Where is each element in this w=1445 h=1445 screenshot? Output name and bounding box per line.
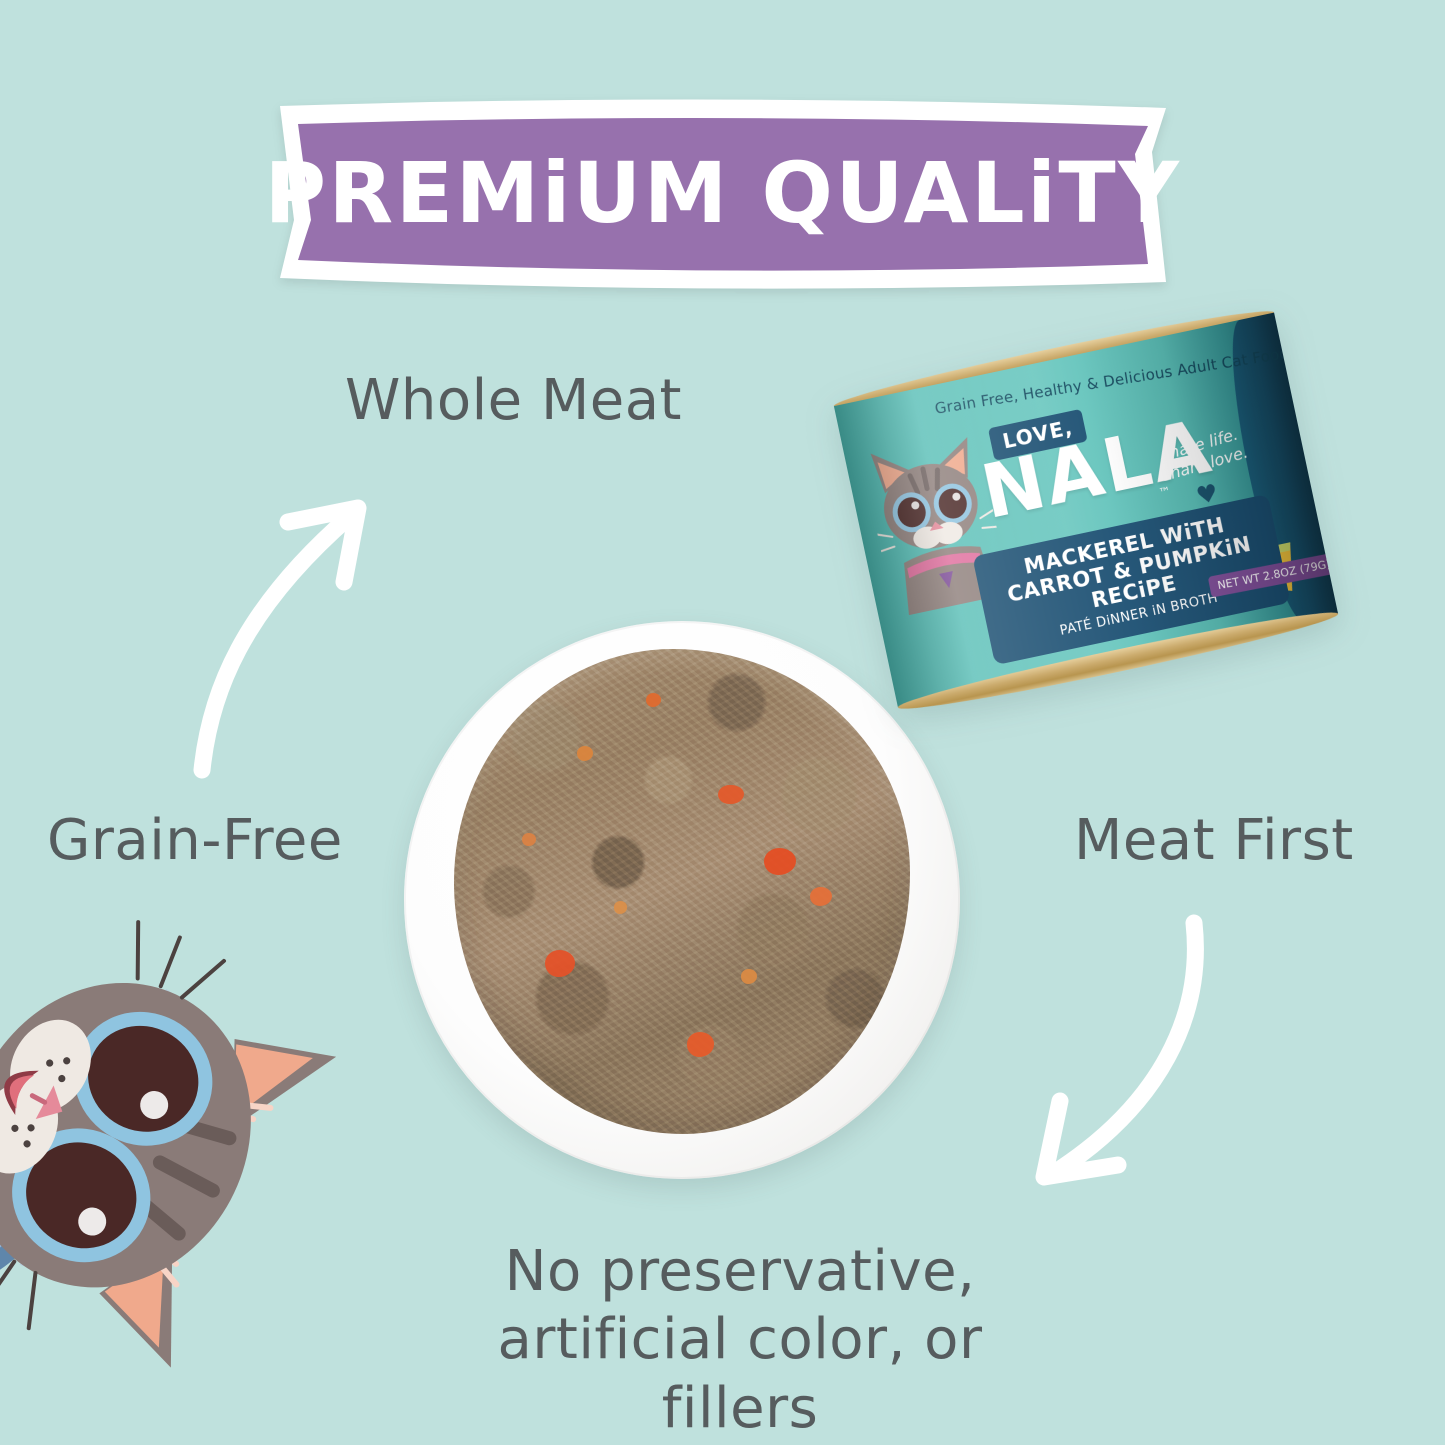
- banner-title: PREMiUM QUALiTY: [262, 92, 1184, 297]
- trademark-symbol: ™: [1158, 484, 1173, 500]
- feature-label-no-preservative: No preservative, artificial color, or fi…: [430, 1238, 1050, 1443]
- premium-quality-infographic: PREMiUM QUALiTY Whole Meat Grain-Free Me…: [0, 0, 1445, 1445]
- feature-label-whole-meat: Whole Meat: [345, 368, 682, 433]
- curved-arrow-down-left-icon: [998, 905, 1243, 1210]
- nala-cat-mascot-icon: [0, 854, 398, 1422]
- feature-label-grain-free: Grain-Free: [47, 808, 343, 873]
- vegetable-piece: [687, 1032, 714, 1056]
- no-preservative-line-2: artificial color, or fillers: [430, 1306, 1050, 1443]
- premium-quality-banner: PREMiUM QUALiTY: [262, 92, 1184, 297]
- vegetable-piece: [764, 848, 796, 875]
- no-preservative-line-1: No preservative,: [430, 1238, 1050, 1306]
- plate-of-cat-food: [404, 621, 960, 1179]
- vegetable-piece: [577, 746, 593, 761]
- vegetable-piece: [545, 950, 575, 977]
- feature-label-meat-first: Meat First: [1074, 808, 1354, 873]
- curved-arrow-up-right-icon: [180, 478, 405, 783]
- product-can: Grain Free, Healthy & Delicious Adult Ca…: [832, 302, 1341, 718]
- can-label: Grain Free, Healthy & Delicious Adult Ca…: [834, 313, 1338, 708]
- vegetable-piece: [718, 785, 743, 804]
